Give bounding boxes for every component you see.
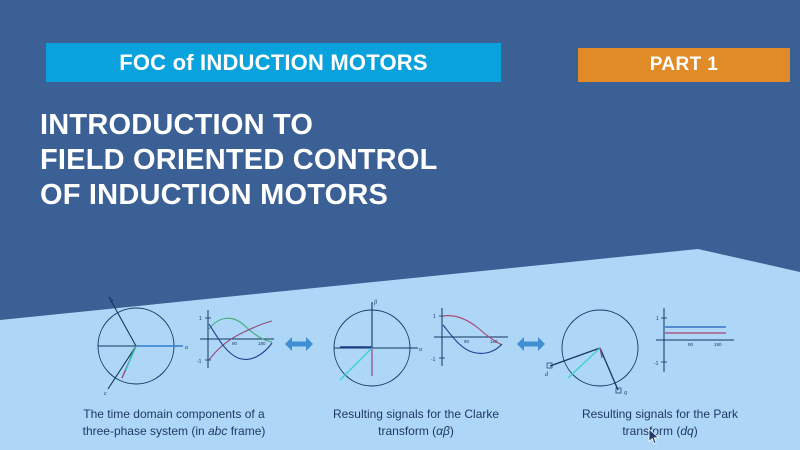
part-badge-label: PART 1 — [578, 54, 790, 76]
caption-abc-line-2-pre: three-phase system (in — [83, 424, 208, 438]
figure-abc-waveform-chart: 1 -1 90 180 — [196, 296, 282, 396]
figure-abc-ylabel-neg: -1 — [197, 359, 202, 365]
title-line-3: OF INDUCTION MOTORS — [40, 178, 600, 213]
mouse-cursor-icon — [648, 428, 660, 446]
part-badge: PART 1 — [578, 48, 790, 82]
figure-clarke-waveform-chart: 1 -1 90 180 — [430, 296, 516, 396]
figure-clarke-axis-label-beta: β — [373, 300, 377, 306]
caption-park: Resulting signals for the Park transform… — [540, 406, 780, 440]
figure-park-vector-diagram: d q — [542, 296, 652, 396]
figure-abc-axis-label-a: a — [185, 345, 188, 351]
title-line-1: INTRODUCTION TO — [40, 108, 600, 143]
figure-clarke-xlabel-90: 90 — [464, 339, 470, 344]
figure-abc-vector-diagram: a c b — [86, 296, 190, 396]
figure-clarke-vector-diagram: β α — [322, 296, 426, 396]
figure-abc-xlabel-180: 180 — [258, 341, 266, 346]
caption-clarke-line-1: Resulting signals for the Clarke — [302, 406, 530, 423]
figure-park-axis-label-d: d — [545, 372, 549, 378]
figure-abc-ylabel-pos: 1 — [199, 316, 202, 322]
caption-clarke-frame-label: αβ — [436, 424, 450, 438]
caption-park-line-2-post: ) — [694, 424, 698, 438]
figure-park-ylabel-pos: 1 — [656, 316, 659, 322]
caption-abc: The time domain components of a three-ph… — [48, 406, 300, 440]
caption-park-frame-label: dq — [680, 424, 693, 438]
diagram-strip: a c b 1 -1 90 180 — [0, 296, 800, 396]
header-banner-label: FOC of INDUCTION MOTORS — [46, 50, 501, 76]
caption-abc-line-2-post: frame) — [227, 424, 265, 438]
header-banner: FOC of INDUCTION MOTORS — [46, 43, 501, 82]
caption-clarke-line-2: transform (αβ) — [302, 423, 530, 440]
title-line-2: FIELD ORIENTED CONTROL — [40, 143, 600, 178]
figure-park-waveform-chart: 1 -1 90 180 — [652, 296, 744, 396]
page-title: INTRODUCTION TO FIELD ORIENTED CONTROL O… — [40, 108, 600, 213]
caption-clarke-line-2-post: ) — [450, 424, 454, 438]
caption-park-line-1: Resulting signals for the Park — [540, 406, 780, 423]
figure-park-xlabel-180: 180 — [714, 342, 722, 347]
figure-park-xlabel-90: 90 — [688, 342, 694, 347]
caption-clarke-line-2-pre: transform ( — [378, 424, 436, 438]
transform-arrow-1 — [284, 334, 314, 359]
figure-abc-axis-label-c: c — [104, 391, 107, 396]
figure-park-axis-label-q: q — [624, 390, 627, 396]
figure-abc-axis-label-b: b — [110, 298, 113, 304]
figure-clarke-axis-label-alpha: α — [419, 347, 423, 353]
caption-abc-line-1: The time domain components of a — [48, 406, 300, 423]
caption-clarke: Resulting signals for the Clarke transfo… — [302, 406, 530, 440]
figure-clarke-ylabel-pos: 1 — [433, 314, 436, 320]
caption-abc-frame-label: abc — [208, 424, 227, 438]
caption-abc-line-2: three-phase system (in abc frame) — [48, 423, 300, 440]
slide-canvas: FOC of INDUCTION MOTORS PART 1 INTRODUCT… — [0, 0, 800, 450]
figure-abc-xlabel-90: 90 — [232, 341, 238, 346]
caption-park-line-2: transform (dq) — [540, 423, 780, 440]
figure-park-ylabel-neg: -1 — [654, 361, 659, 367]
figure-clarke-ylabel-neg: -1 — [431, 357, 436, 363]
